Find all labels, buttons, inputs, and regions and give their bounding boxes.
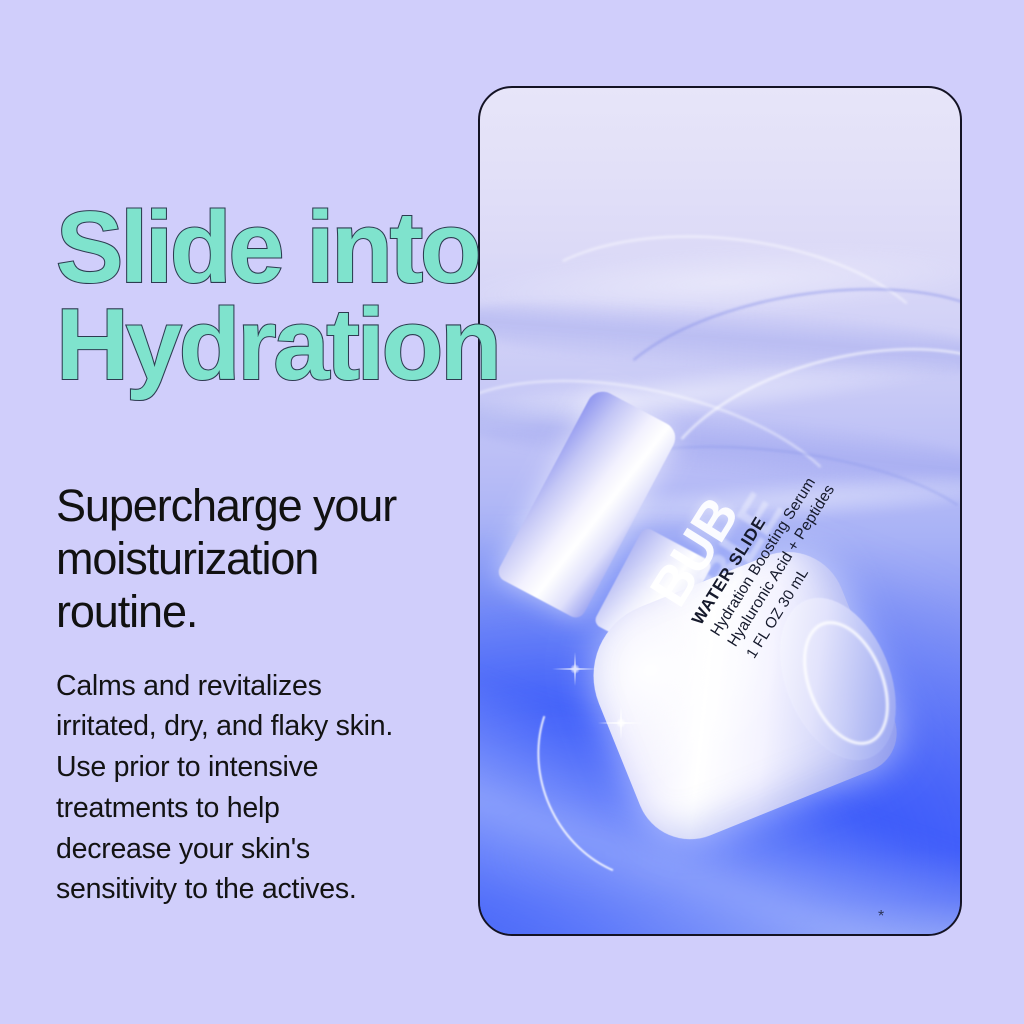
- body-copy: Calms and revitalizes irritated, dry, an…: [56, 666, 448, 911]
- footnote-asterisk: *: [878, 908, 884, 926]
- page-title: Slide into Hydration: [56, 200, 696, 394]
- subheadline: Supercharge your moisturization routine.: [56, 480, 466, 638]
- ad-canvas: BLE BUB WATER SLIDE Hydration Boosting S…: [0, 0, 1024, 1024]
